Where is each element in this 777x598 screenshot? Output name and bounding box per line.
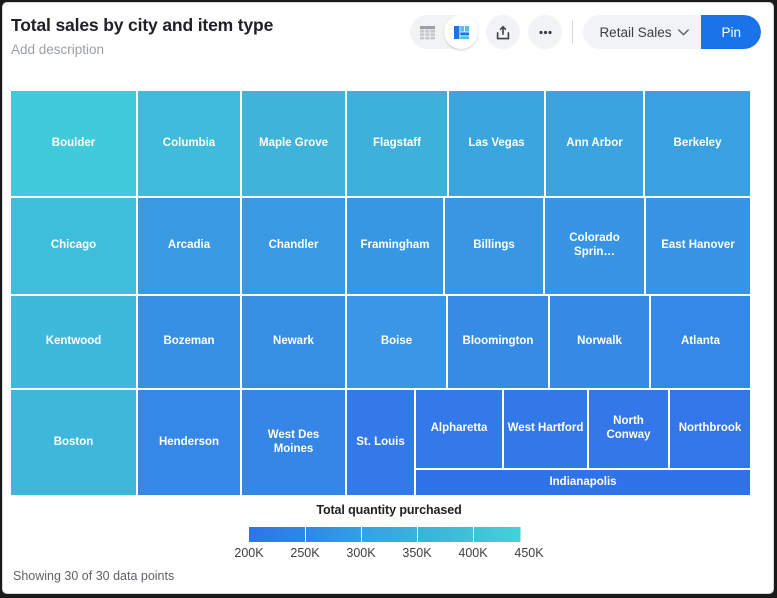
treemap-tile-label: Alpharetta xyxy=(431,422,488,436)
treemap-tile[interactable]: Las Vegas xyxy=(449,91,544,196)
treemap-tile[interactable]: Northbrook xyxy=(670,390,750,468)
treemap-tile-label: Framingham xyxy=(360,239,429,253)
chart-card: Total sales by city and item type Add de… xyxy=(2,2,774,594)
data-source-dropdown[interactable]: Retail Sales xyxy=(583,15,701,49)
legend-gradient-wrap xyxy=(249,527,529,542)
treemap-tile-label: Bloomington xyxy=(463,335,534,349)
treemap-tile[interactable]: Framingham xyxy=(347,198,443,294)
treemap-tile-label: Colorado Sprin… xyxy=(548,232,641,260)
more-options-button[interactable] xyxy=(528,15,562,49)
legend-tick-labels: 200K250K300K350K400K450K xyxy=(219,546,559,562)
treemap-tile[interactable]: Berkeley xyxy=(645,91,750,196)
treemap-tile[interactable]: Billings xyxy=(445,198,543,294)
treemap-tile-label: Bozeman xyxy=(163,335,214,349)
treemap-tile[interactable]: Chicago xyxy=(11,198,136,294)
pin-button-label: Pin xyxy=(721,25,741,40)
treemap-tile-label: Columbia xyxy=(163,137,215,151)
treemap-tile-label: West Hartford xyxy=(508,422,584,436)
treemap-tile[interactable]: Norwalk xyxy=(550,296,649,388)
treemap-tile[interactable]: West Des Moines xyxy=(242,390,345,495)
treemap-tile-label: Northbrook xyxy=(679,422,742,436)
treemap-tile-label: Kentwood xyxy=(46,335,102,349)
treemap-tile-label: West Des Moines xyxy=(268,429,320,457)
treemap-tile[interactable]: Bozeman xyxy=(138,296,240,388)
treemap-tile[interactable]: St. Louis xyxy=(347,390,414,495)
legend-tick-label: 350K xyxy=(402,546,431,560)
table-grid-icon xyxy=(419,24,436,41)
treemap-tile-label: North Conway xyxy=(606,415,650,443)
treemap-tile[interactable]: East Hanover xyxy=(646,198,750,294)
legend-tick-label: 400K xyxy=(458,546,487,560)
treemap-tile[interactable]: Maple Grove xyxy=(242,91,345,196)
data-source-label: Retail Sales xyxy=(599,25,671,40)
share-button[interactable] xyxy=(486,15,520,49)
treemap-tile[interactable]: Boulder xyxy=(11,91,136,196)
treemap-tile-label: Atlanta xyxy=(681,335,720,349)
toolbar: Retail Sales Pin xyxy=(410,15,761,49)
treemap-tile-label: Newark xyxy=(273,335,314,349)
treemap-tile-label: Indianapolis xyxy=(549,476,616,490)
treemap-tile-label: Henderson xyxy=(159,436,219,450)
legend-gradient-bar xyxy=(249,527,529,542)
treemap-tile-label: Las Vegas xyxy=(468,137,524,151)
treemap-tile-label: Chandler xyxy=(269,239,319,253)
legend-tick xyxy=(305,527,306,542)
legend-tick-label: 200K xyxy=(234,546,263,560)
treemap-tile[interactable]: Alpharetta xyxy=(416,390,502,468)
description-placeholder[interactable]: Add description xyxy=(11,42,273,57)
legend-tick-label: 250K xyxy=(290,546,319,560)
treemap-tile[interactable]: Flagstaff xyxy=(347,91,447,196)
treemap-tile[interactable]: Columbia xyxy=(138,91,240,196)
treemap-tile-label: Berkeley xyxy=(674,137,722,151)
treemap-tile-label: Boston xyxy=(54,436,94,450)
treemap-tile-label: East Hanover xyxy=(661,239,735,253)
legend-title: Total quantity purchased xyxy=(3,503,774,517)
legend-tick-label: 450K xyxy=(514,546,543,560)
treemap-tile[interactable]: Colorado Sprin… xyxy=(545,198,644,294)
treemap-chart: BoulderColumbiaMaple GroveFlagstaffLas V… xyxy=(11,91,750,495)
title-block: Total sales by city and item type Add de… xyxy=(11,15,273,57)
view-toggle-group xyxy=(410,15,478,49)
treemap-icon xyxy=(453,24,470,41)
treemap-tile-label: Boulder xyxy=(52,137,95,151)
legend-tick xyxy=(417,527,418,542)
legend-tick xyxy=(473,527,474,542)
legend-tick xyxy=(361,527,362,542)
treemap-view-button[interactable] xyxy=(444,15,478,49)
treemap-tile[interactable]: North Conway xyxy=(589,390,668,468)
toolbar-divider xyxy=(572,20,573,44)
treemap-tile[interactable]: Newark xyxy=(242,296,345,388)
source-pin-group: Retail Sales Pin xyxy=(583,15,761,49)
treemap-tile-label: Arcadia xyxy=(168,239,210,253)
treemap-tile-label: Flagstaff xyxy=(373,137,421,151)
treemap-tile[interactable]: Boise xyxy=(347,296,446,388)
treemap-tile-label: Norwalk xyxy=(577,335,622,349)
legend-tick-label: 300K xyxy=(346,546,375,560)
treemap-tile[interactable]: Arcadia xyxy=(138,198,240,294)
treemap-tile[interactable]: Bloomington xyxy=(448,296,548,388)
treemap-tile-label: St. Louis xyxy=(356,436,405,450)
treemap-tile[interactable]: Atlanta xyxy=(651,296,750,388)
table-view-button[interactable] xyxy=(410,15,444,49)
share-upload-icon xyxy=(495,24,511,41)
chevron-down-icon xyxy=(678,29,689,36)
pin-button[interactable]: Pin xyxy=(701,15,761,49)
card-header: Total sales by city and item type Add de… xyxy=(3,3,774,73)
more-horizontal-icon xyxy=(537,24,554,41)
treemap-tile[interactable]: Kentwood xyxy=(11,296,136,388)
treemap-tile-label: Billings xyxy=(473,239,515,253)
treemap-tile[interactable]: Boston xyxy=(11,390,136,495)
page-title: Total sales by city and item type xyxy=(11,15,273,36)
treemap-tile[interactable]: Chandler xyxy=(242,198,345,294)
status-text: Showing 30 of 30 data points xyxy=(13,569,174,583)
treemap-tile[interactable]: West Hartford xyxy=(504,390,587,468)
treemap-tile[interactable]: Henderson xyxy=(138,390,240,495)
treemap-tile-label: Chicago xyxy=(51,239,96,253)
treemap-tile-label: Ann Arbor xyxy=(566,137,622,151)
color-legend: Total quantity purchased 200K250K300K350… xyxy=(3,503,774,562)
treemap-tile-label: Maple Grove xyxy=(259,137,328,151)
treemap-tile-label: Boise xyxy=(381,335,412,349)
treemap-tile[interactable]: Indianapolis xyxy=(416,470,750,495)
treemap-tile[interactable]: Ann Arbor xyxy=(546,91,643,196)
